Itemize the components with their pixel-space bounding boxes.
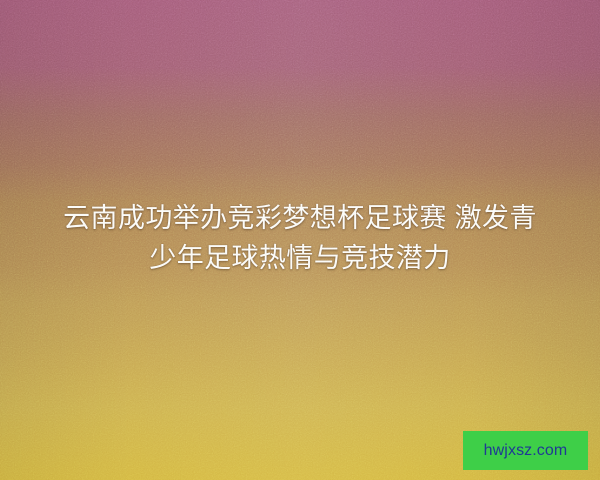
watermark-badge: hwjxsz.com	[463, 431, 588, 470]
poster-image: 云南成功举办竞彩梦想杯足球赛 激发青 少年足球热情与竞技潜力 hwjxsz.co…	[0, 0, 600, 480]
watermark-label: hwjxsz.com	[484, 443, 568, 459]
background-gradient	[0, 0, 600, 480]
